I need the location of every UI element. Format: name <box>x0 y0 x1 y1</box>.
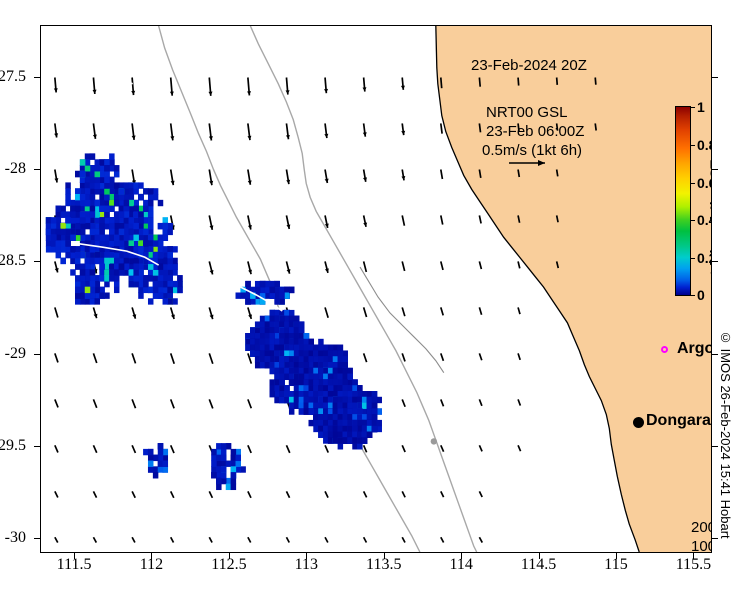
colorbar-tick-0: 0 <box>697 287 705 303</box>
depth-legend-200m: 200m <box>691 518 712 537</box>
y-axis-tick-right <box>712 354 718 355</box>
y-axis-label: -29.5 <box>0 437 26 455</box>
y-axis-tick-right <box>712 77 718 78</box>
reference-vector-arrow <box>507 156 553 170</box>
x-axis-label: 113.5 <box>366 556 401 574</box>
y-axis-label: -29 <box>5 345 26 363</box>
x-axis-label: 112.5 <box>211 556 246 574</box>
colorbar-gradient <box>675 106 691 296</box>
y-axis-tick <box>34 169 40 170</box>
colorbar-tick-1: 1 <box>697 99 705 115</box>
y-axis-tick-right <box>712 261 718 262</box>
x-axis-label: 111.5 <box>57 556 92 574</box>
source-label-line2: 23-Feb 06:00Z <box>486 123 584 140</box>
x-axis-label: 114 <box>449 556 472 574</box>
colorbar: 1 0.8 0.6 0.4 0.2 0 <box>675 106 691 296</box>
y-axis-tick-right <box>712 169 718 170</box>
colorbar-title: std dev of 4hr SST comp <box>707 106 712 296</box>
y-axis-tick-right <box>712 538 718 539</box>
dongara-town-marker-icon <box>633 417 644 428</box>
y-axis-label: -28.5 <box>0 252 26 270</box>
y-axis-tick <box>34 538 40 539</box>
y-axis-label: -28 <box>5 160 26 178</box>
x-axis-label: 112 <box>140 556 163 574</box>
map-plot-area: 23-Feb-2024 20Z NRT00 GSL 23-Feb 06:00Z … <box>40 25 712 553</box>
depth-legend-1000m: 1000m <box>691 537 712 553</box>
depth-contour-legend: 200m 1000m <box>691 518 712 553</box>
y-axis-tick <box>34 77 40 78</box>
y-axis-label: -30 <box>5 529 26 547</box>
y-axis-tick <box>34 446 40 447</box>
y-axis-tick-right <box>712 446 718 447</box>
argo-float-marker-icon <box>661 346 668 353</box>
source-label-line1: NRT00 GSL <box>486 104 567 121</box>
x-axis-label: 115.5 <box>676 556 711 574</box>
plot-overlay-layer: 23-Feb-2024 20Z NRT00 GSL 23-Feb 06:00Z … <box>41 26 711 552</box>
y-axis-label: -27.5 <box>0 68 26 86</box>
x-axis-label: 114.5 <box>521 556 556 574</box>
y-axis-tick <box>34 261 40 262</box>
y-axis-tick <box>34 354 40 355</box>
date-stamp-label: 23-Feb-2024 20Z <box>471 57 587 74</box>
x-axis-label: 115 <box>604 556 627 574</box>
copyright-notice: © IMOS 26-Feb-2024 15:41 Hobart <box>718 330 733 539</box>
dongara-town-label: Dongara <box>646 412 711 430</box>
argo-float-label: Argo <box>677 340 712 358</box>
x-axis-label: 113 <box>295 556 318 574</box>
